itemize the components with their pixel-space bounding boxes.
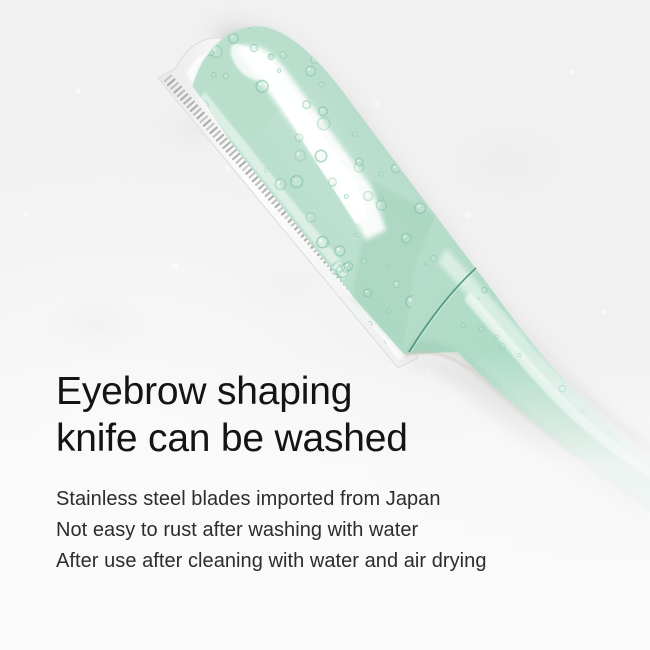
headline-line-2: knife can be washed bbox=[56, 415, 596, 462]
product-marketing-image: Eyebrow shaping knife can be washed Stai… bbox=[0, 0, 650, 650]
feature-list: Stainless steel blades imported from Jap… bbox=[56, 484, 596, 577]
marketing-copy: Eyebrow shaping knife can be washed Stai… bbox=[56, 368, 596, 577]
blade-head bbox=[193, 27, 436, 354]
feature-item-2: Not easy to rust after washing with wate… bbox=[56, 515, 596, 546]
feature-item-3: After use after cleaning with water and … bbox=[56, 546, 596, 577]
feature-item-1: Stainless steel blades imported from Jap… bbox=[56, 484, 596, 515]
headline-line-1: Eyebrow shaping bbox=[56, 368, 596, 415]
